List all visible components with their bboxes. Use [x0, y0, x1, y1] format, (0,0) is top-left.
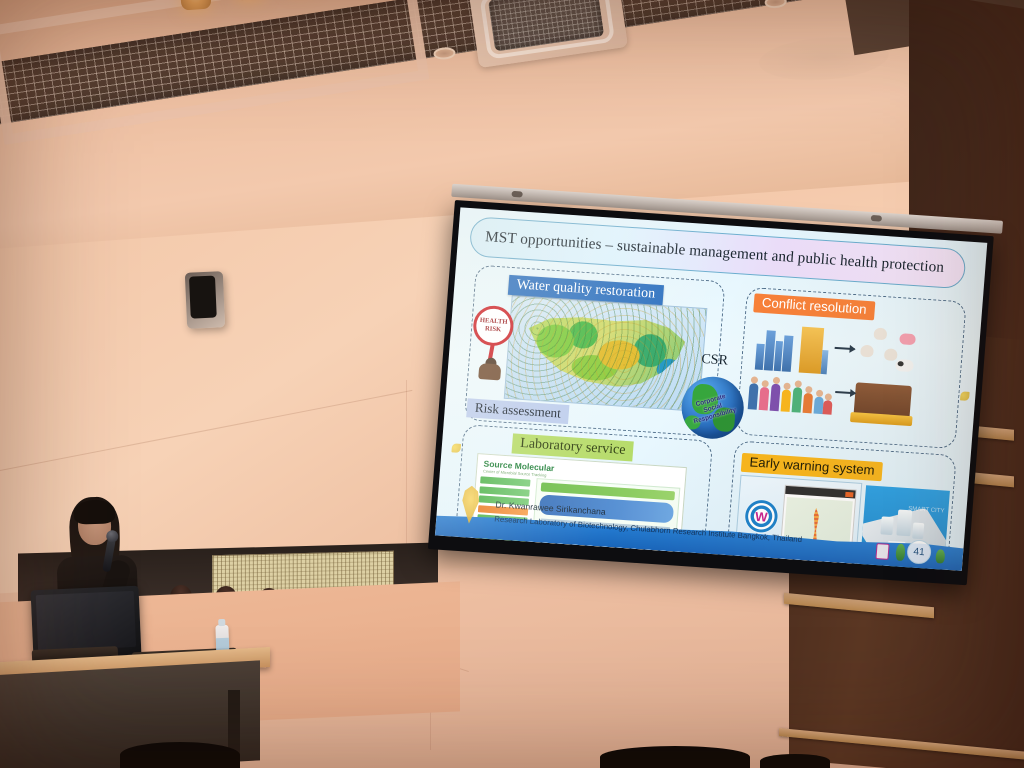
- us-water-quality-map: [504, 295, 708, 412]
- barn-icon: [853, 382, 912, 420]
- butterfly-icon: [960, 391, 970, 401]
- health-risk-badge-text: HEALTHRISK: [479, 317, 508, 334]
- w-logo-letter: W: [755, 508, 768, 524]
- foreground-silhouette: [120, 742, 240, 768]
- person-icon: [474, 357, 506, 381]
- presentation-slide: MST opportunities – sustainable manageme…: [435, 207, 987, 570]
- foreground-silhouette: [600, 746, 750, 768]
- ac-cassette-unit: [468, 0, 628, 68]
- csr-globe-text: Corporate Social Responsibility: [679, 375, 746, 441]
- source-molecular-logo: Source Molecular Center of Microbial Sou…: [483, 459, 555, 479]
- livestock-icon: [852, 326, 918, 384]
- city-block: [912, 522, 924, 539]
- downlight-icon: [764, 0, 787, 9]
- people-group-icon: [746, 369, 835, 415]
- csr-globe-icon: Corporate Social Responsibility: [679, 375, 746, 441]
- rail-knob: [871, 215, 882, 222]
- downlight-icon: [433, 47, 456, 61]
- office-tower-icon: [797, 322, 831, 374]
- chicken-icon: [873, 327, 887, 340]
- city-block: [880, 516, 893, 535]
- csr-acronym: CSR: [701, 352, 729, 370]
- conference-room-photo: MST opportunities – sustainable manageme…: [0, 0, 1024, 768]
- outfall-pipe-icon: [875, 543, 889, 560]
- wall-speaker-icon: [185, 271, 225, 329]
- presenter-hair-front: [74, 499, 116, 524]
- ac-unit-ring: [479, 0, 615, 60]
- pig-icon: [899, 333, 916, 345]
- rail-knob: [511, 191, 522, 198]
- ceiling-grille-frame: [0, 0, 429, 145]
- map-data-speckle: [505, 296, 706, 411]
- foreground-silhouette: [760, 754, 830, 768]
- butterfly-icon: [451, 443, 461, 453]
- city-buildings-icon: [755, 324, 794, 372]
- chicken-icon: [884, 348, 898, 361]
- cow-icon: [895, 359, 914, 372]
- projection-screen: MST opportunities – sustainable manageme…: [428, 200, 994, 585]
- w-logo-icon: W: [743, 498, 780, 534]
- chicken-icon: [860, 345, 874, 358]
